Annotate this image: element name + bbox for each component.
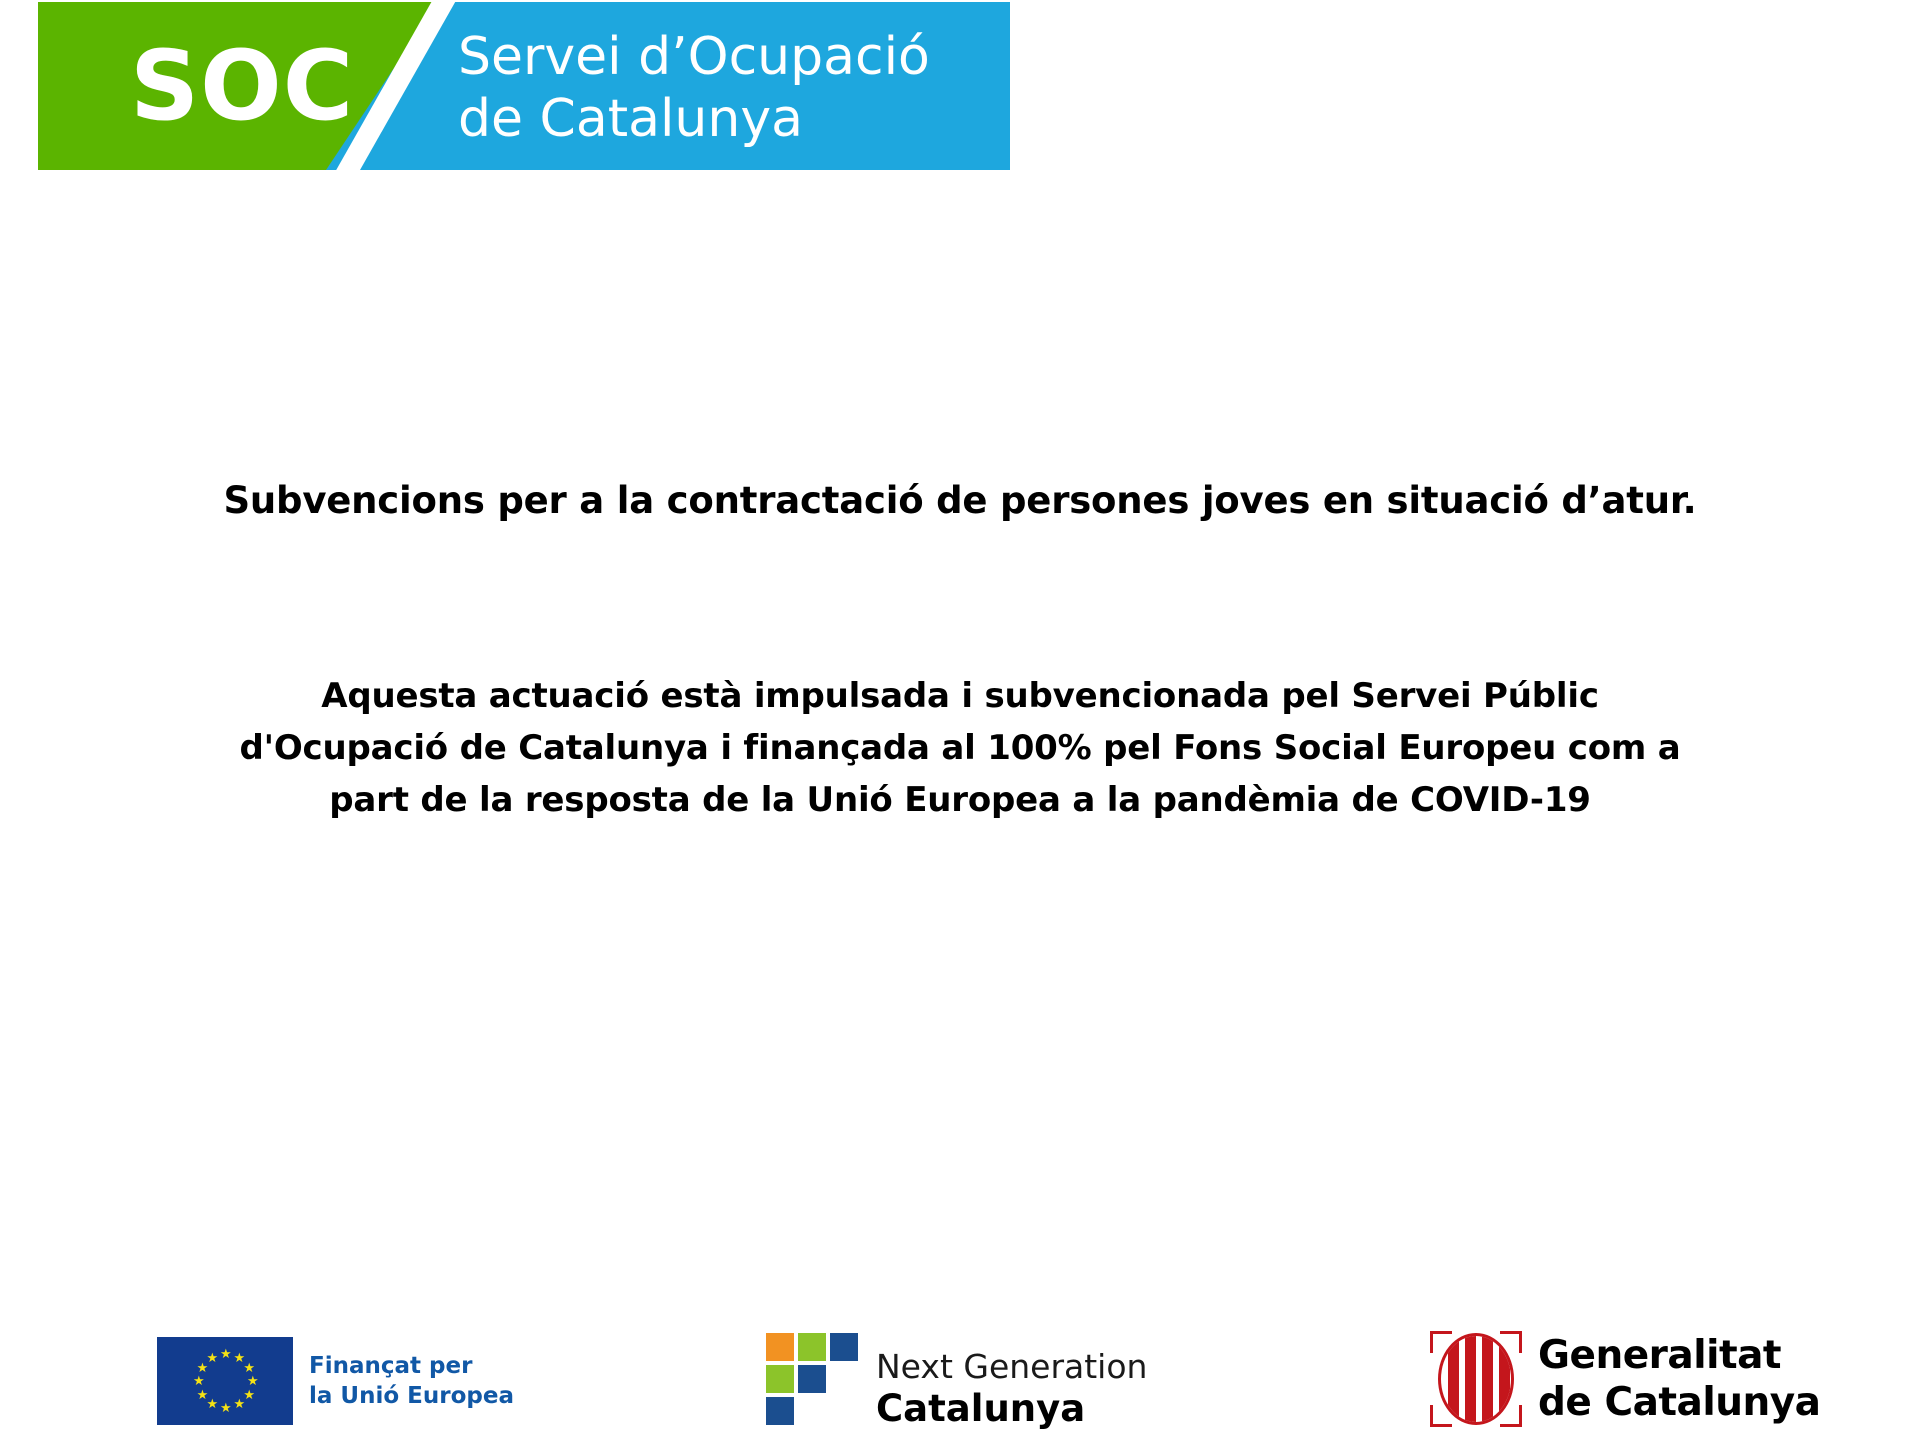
soc-logo: SOC Servei d’Ocupació de Catalunya bbox=[38, 2, 1010, 170]
soc-logo-organization-name: Servei d’Ocupació de Catalunya bbox=[458, 26, 930, 150]
eu-flag-icon: ★★★★★★★★★★★★ bbox=[157, 1337, 293, 1425]
eu-star-icon: ★ bbox=[247, 1376, 257, 1386]
next-generation-catalunya-logo: Next Generation Catalunya bbox=[766, 1331, 1147, 1431]
next-generation-squares-icon bbox=[766, 1333, 862, 1429]
generalitat-de-catalunya-logo: Generalitat de Catalunya bbox=[1430, 1331, 1820, 1427]
next-generation-square-blue bbox=[830, 1333, 858, 1361]
generalitat-label-line-1: Generalitat bbox=[1538, 1332, 1820, 1379]
funding-statement-line-2: d'Ocupació de Catalunya i finançada al 1… bbox=[40, 722, 1880, 774]
next-generation-square-blue bbox=[798, 1365, 826, 1393]
eu-star-icon: ★ bbox=[220, 1403, 230, 1413]
eu-star-icon: ★ bbox=[220, 1349, 230, 1359]
funding-statement-line-1: Aquesta actuació està impulsada i subven… bbox=[40, 670, 1880, 722]
generalitat-label-group: Generalitat de Catalunya bbox=[1538, 1332, 1820, 1426]
soc-logo-acronym: SOC bbox=[130, 34, 354, 138]
eu-star-icon: ★ bbox=[193, 1376, 203, 1386]
next-generation-square-blue bbox=[766, 1397, 794, 1425]
eu-star-icon: ★ bbox=[234, 1353, 244, 1363]
generalitat-label-line-2: de Catalunya bbox=[1538, 1379, 1820, 1426]
next-generation-square-orange bbox=[766, 1333, 794, 1361]
footer-logo-bar: ★★★★★★★★★★★★ Finançat per la Unió Europe… bbox=[0, 1325, 1920, 1432]
eu-funded-label: Finançat per la Unió Europea bbox=[309, 1351, 514, 1411]
next-generation-square-green bbox=[766, 1365, 794, 1393]
shield-stripe bbox=[1499, 1336, 1510, 1422]
shield-oval bbox=[1438, 1333, 1514, 1425]
eu-star-icon: ★ bbox=[234, 1399, 244, 1409]
page-title: Subvencions per a la contractació de per… bbox=[0, 478, 1920, 524]
eu-star-icon: ★ bbox=[197, 1363, 207, 1373]
shield-stripe bbox=[1482, 1336, 1493, 1422]
catalan-shield-icon bbox=[1430, 1331, 1522, 1427]
next-generation-label-group: Next Generation Catalunya bbox=[876, 1347, 1147, 1431]
next-generation-label-line-2: Catalunya bbox=[876, 1387, 1147, 1431]
title-block: Subvencions per a la contractació de per… bbox=[0, 478, 1920, 524]
next-generation-square-green bbox=[798, 1333, 826, 1361]
shield-stripe bbox=[1465, 1336, 1476, 1422]
eu-star-icon: ★ bbox=[197, 1390, 207, 1400]
eu-funded-logo: ★★★★★★★★★★★★ Finançat per la Unió Europe… bbox=[157, 1337, 514, 1425]
funding-statement-block: Aquesta actuació està impulsada i subven… bbox=[0, 670, 1920, 826]
shield-stripe bbox=[1448, 1336, 1459, 1422]
eu-star-icon: ★ bbox=[207, 1399, 217, 1409]
next-generation-label-line-1: Next Generation bbox=[876, 1347, 1147, 1387]
eu-star-icon: ★ bbox=[243, 1363, 253, 1373]
eu-star-icon: ★ bbox=[207, 1353, 217, 1363]
slide-canvas: SOC Servei d’Ocupació de Catalunya Subve… bbox=[0, 0, 1920, 1432]
funding-statement-line-3: part de la resposta de la Unió Europea a… bbox=[40, 774, 1880, 826]
